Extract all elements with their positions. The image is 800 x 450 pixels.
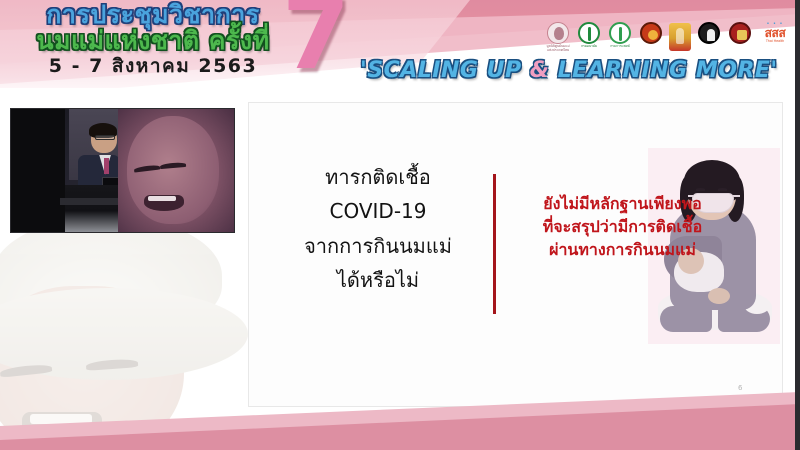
tagline-part-1: 'SCALING UP [360, 58, 522, 83]
question-line-4: ได้หรือไม่ [278, 263, 478, 297]
sponsor-logo-strip: มูลนิธิศูนย์นมแม่แห่งประเทศไทย กรมอนามัย… [545, 22, 792, 52]
answer-line-1: ยังไม่มีหลักฐานเพียงพอ [505, 192, 740, 215]
red-seal-logo [727, 22, 753, 52]
speaker-glasses-icon [95, 135, 115, 140]
conference-header-banner: การประชุมวิชาการ นมแม่แห่งชาติ ครั้งที่ … [0, 0, 800, 98]
presentation-slide-stage: การประชุมวิชาการ นมแม่แห่งชาติ ครั้งที่ … [0, 0, 800, 450]
ministry-of-public-health-icon [578, 22, 600, 44]
thaihealth-caption: Thai Health [758, 40, 792, 44]
royal-college-icon [640, 22, 662, 44]
slide-answer-text: ยังไม่มีหลักฐานเพียงพอ ที่จะสรุปว่ามีการ… [505, 192, 740, 262]
question-line-1: ทารกติดเชื้อ [278, 160, 478, 194]
department-of-health-caption: กรมการแพทย์ [607, 45, 633, 49]
tagline-part-2: LEARNING MORE' [558, 58, 778, 83]
thaihealth-text: สสส [758, 27, 792, 39]
black-seal-logo [696, 22, 722, 52]
illustration-eye-left [696, 188, 705, 191]
frame-right-edge [795, 0, 800, 450]
conference-title-line1: การประชุมวิชาการ [18, 2, 288, 27]
illustration-eye-right [718, 188, 727, 191]
answer-line-3: ผ่านทางการกินนมแม่ [505, 238, 740, 261]
black-seal-icon [698, 22, 720, 44]
department-of-health-logo: กรมการแพทย์ [607, 22, 633, 52]
conference-title-line2: นมแม่แห่งชาติ ครั้งที่ [18, 28, 288, 53]
breastfeeding-foundation-caption: มูลนิธิศูนย์นมแม่แห่งประเทศไทย [545, 45, 571, 52]
department-of-health-icon [609, 22, 631, 44]
red-vertical-divider [493, 174, 496, 314]
thaihealth-logo: • • • สสส Thai Health [758, 22, 792, 52]
breastfeeding-foundation-icon [547, 22, 569, 44]
answer-line-2: ที่จะสรุปว่ามีการติดเชื้อ [505, 215, 740, 238]
ministry-of-public-health-caption: กรมอนามัย [576, 45, 602, 49]
conference-title-block: การประชุมวิชาการ นมแม่แห่งชาติ ครั้งที่ … [18, 2, 288, 76]
question-line-2: COVID-19 [278, 194, 478, 228]
speaker-tie [104, 158, 109, 174]
royal-college-logo [638, 22, 664, 52]
red-seal-icon [729, 22, 751, 44]
speaker-video-thumbnail[interactable] [10, 108, 235, 233]
baby-photo-half [118, 109, 234, 232]
tagline-ampersand: & [530, 58, 550, 83]
footer-pink-band [0, 388, 800, 450]
conference-tagline: 'SCALING UP & LEARNING MORE' [360, 58, 778, 83]
breastfeeding-foundation-logo: มูลนิธิศูนย์นมแม่แห่งประเทศไทย [545, 22, 571, 52]
illustration-hand [708, 288, 730, 304]
video-dark-panel [11, 109, 65, 232]
ministry-of-public-health-logo: กรมอนามัย [576, 22, 602, 52]
question-line-3: จากการกินนมแม่ [278, 229, 478, 263]
conference-date-range: 5 - 7 สิงหาคม 2563 [18, 57, 288, 76]
baby-teeth [148, 196, 176, 201]
royal-emblem-logo [669, 23, 691, 51]
conference-edition-number: 7 [282, 0, 350, 84]
slide-question-text: ทารกติดเชื้อ COVID-19 จากการกินนมแม่ ได้… [278, 160, 478, 298]
